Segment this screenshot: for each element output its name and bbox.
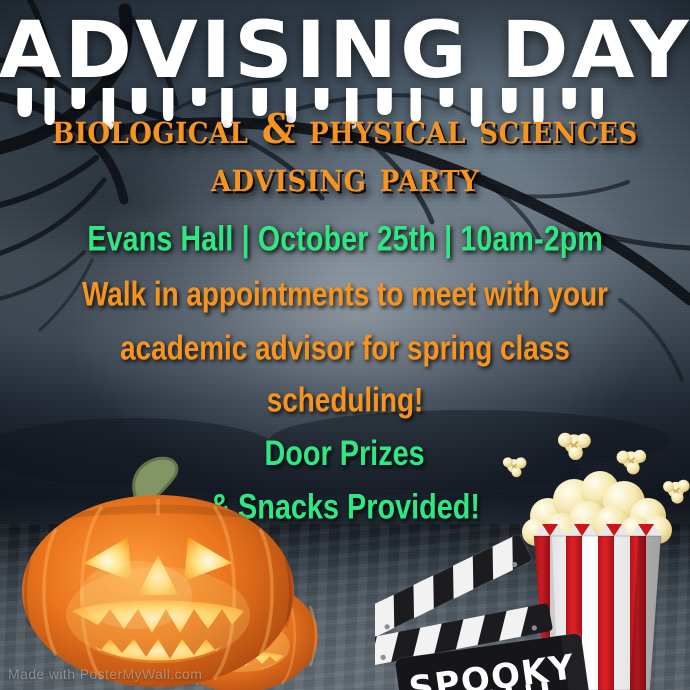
subtitle-line-1: Biological & Physical Sciences [52, 105, 638, 153]
watermark: Made with PosterMyWall.com [8, 666, 202, 682]
event-description: Walk in appointments to meet with your a… [38, 269, 652, 428]
event-perks: Door Prizes & Snacks Provided! [210, 426, 481, 533]
event-subtitle: Biological & Physical Sciences Advising … [52, 105, 638, 200]
subtitle-line-2: Advising Party [52, 153, 638, 201]
perks-line-2: & Snacks Provided! [210, 480, 481, 534]
description-line-1: Walk in appointments to meet with your [38, 269, 652, 322]
page-title-text: ADVISING DAY [0, 6, 690, 96]
page-title: ADVISING DAY [0, 14, 690, 88]
perks-line-1: Door Prizes [210, 426, 481, 480]
event-poster: ADVISING DAY [0, 0, 690, 690]
event-details-bar: Evans Hall | October 25th | 10am-2pm [87, 219, 603, 260]
description-line-2: academic advisor for spring class schedu… [38, 322, 652, 428]
